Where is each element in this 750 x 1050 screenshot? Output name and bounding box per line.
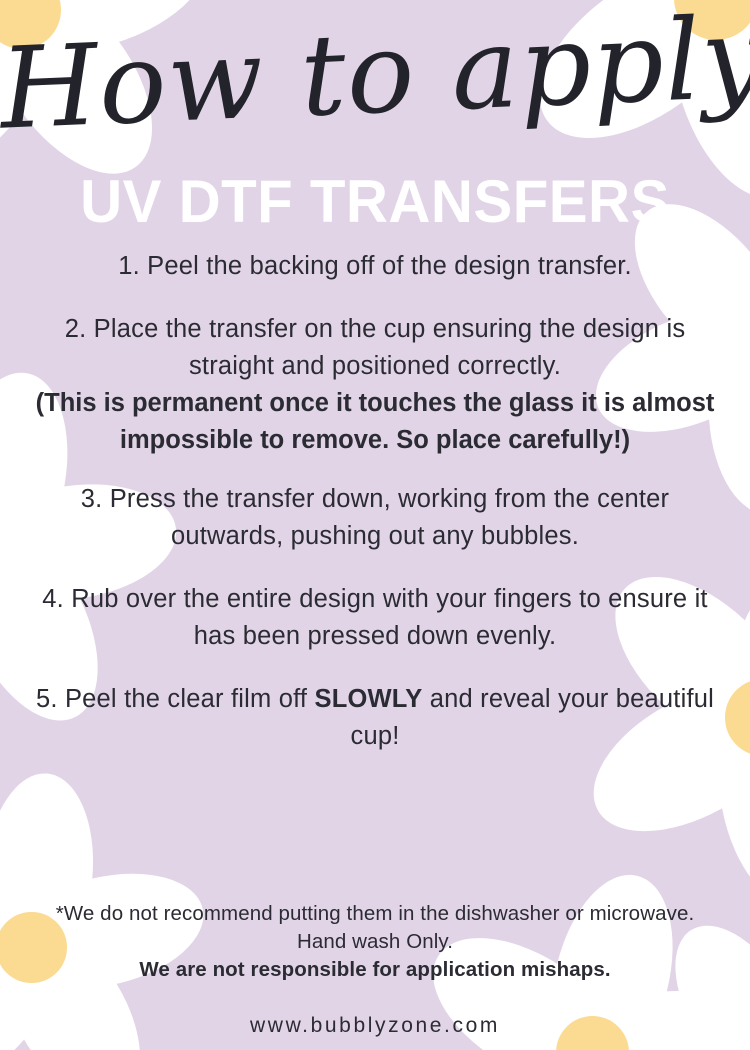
step-3-text: 3. Press the transfer down, working from… — [81, 485, 669, 550]
step-1: 1. Peel the backing off of the design tr… — [22, 248, 728, 285]
footer: *We do not recommend putting them in the… — [0, 900, 750, 1038]
disclaimer-line-1: *We do not recommend putting them in the… — [34, 900, 716, 956]
step-2-text: 2. Place the transfer on the cup ensurin… — [65, 315, 686, 380]
poster-canvas: How to apply UV DTF TRANSFERS 1. Peel th… — [0, 0, 750, 1050]
step-4: 4. Rub over the entire design with your … — [22, 581, 728, 655]
website-url: www.bubblyzone.com — [34, 1014, 716, 1038]
page-title-headline: UV DTF TRANSFERS — [11, 172, 739, 232]
step-1-text: 1. Peel the backing off of the design tr… — [118, 252, 632, 280]
step-2-note: (This is permanent once it touches the g… — [22, 385, 728, 459]
step-4-text: 4. Rub over the entire design with your … — [42, 585, 707, 650]
step-5-emphasis: SLOWLY — [314, 685, 422, 713]
disclaimer-line-2: We are not responsible for application m… — [34, 956, 716, 984]
instructions-list: 1. Peel the backing off of the design tr… — [0, 248, 750, 781]
step-5-text-before: 5. Peel the clear film off — [36, 685, 314, 713]
step-2: 2. Place the transfer on the cup ensurin… — [22, 311, 728, 459]
script-title: How to apply — [0, 2, 750, 145]
step-5: 5. Peel the clear film off SLOWLY and re… — [22, 681, 728, 755]
step-3: 3. Press the transfer down, working from… — [22, 481, 728, 555]
